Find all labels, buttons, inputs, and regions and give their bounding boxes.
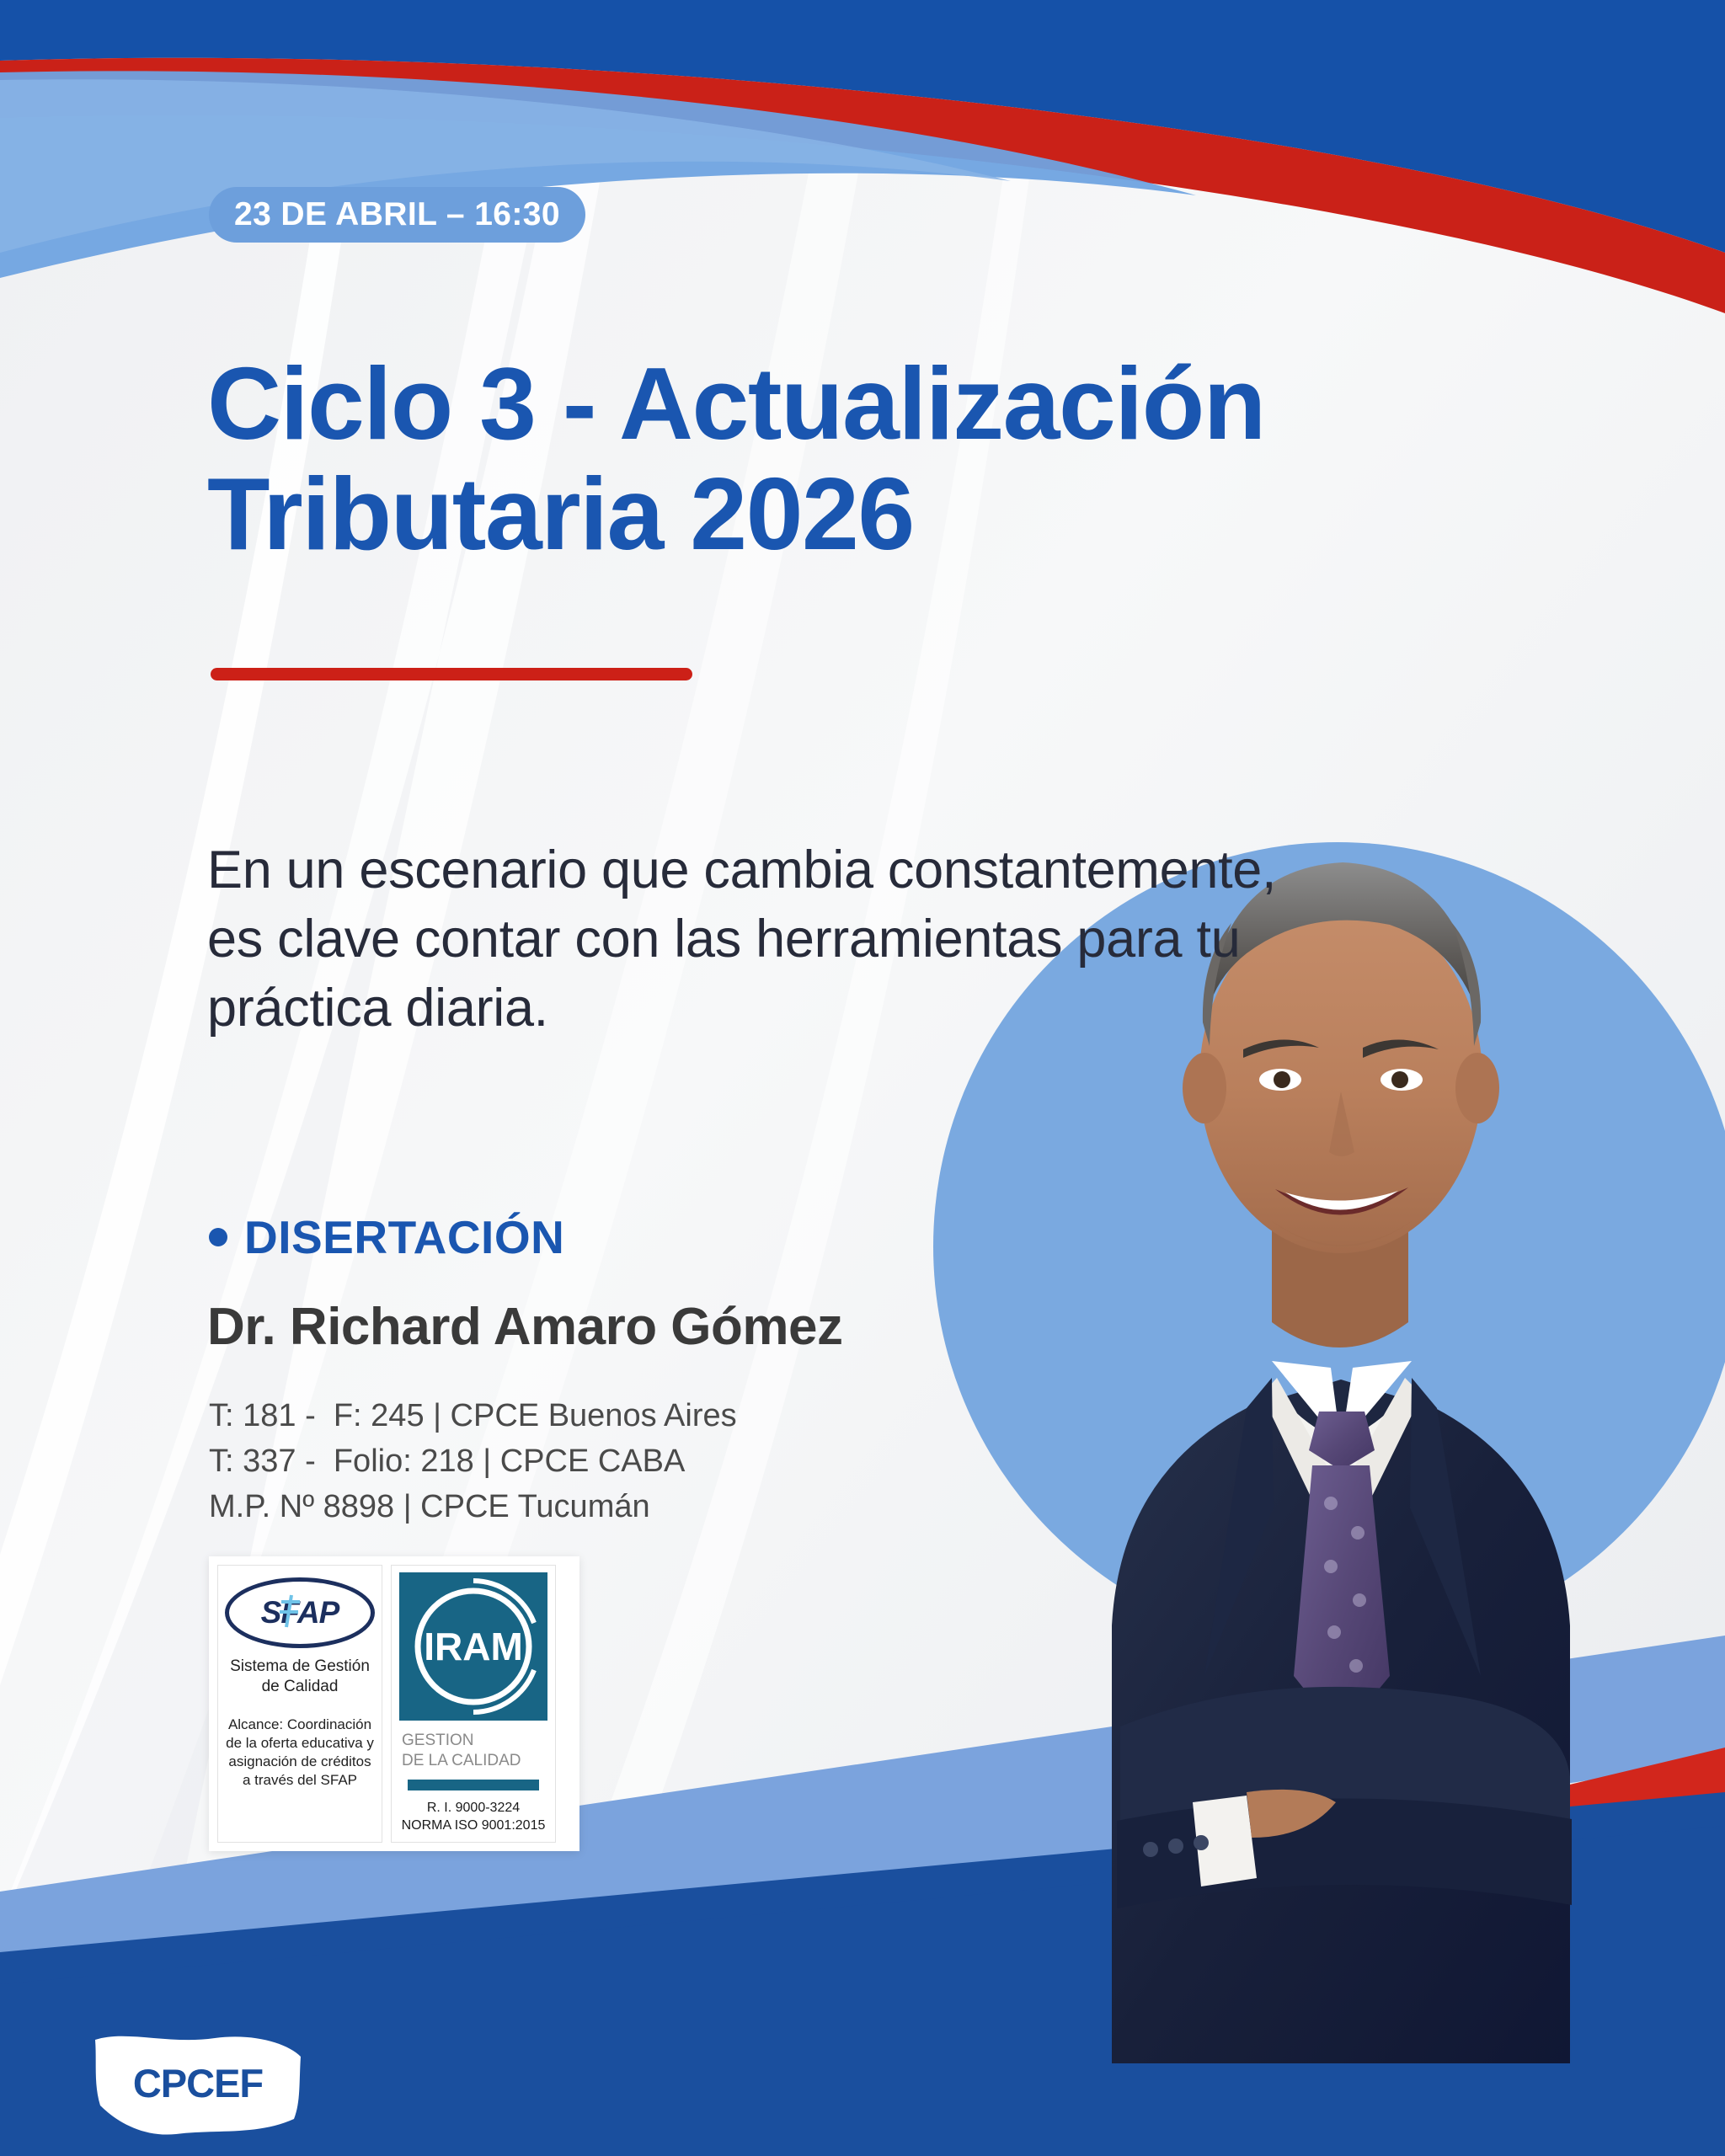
speaker-credentials: T: 181 - F: 245 | CPCE Buenos Aires T: 3… — [209, 1394, 737, 1530]
sfap-accent-icon — [278, 1593, 303, 1629]
iram-label-line-2: DE LA CALIDAD — [402, 1752, 521, 1769]
bullet-icon — [209, 1228, 227, 1246]
credential-line-2: T: 337 - Folio: 218 | CPCE CABA — [209, 1439, 737, 1485]
iram-registry-info: R. I. 9000-3224 NORMA ISO 9001:2015 — [402, 1799, 546, 1835]
iram-label: GESTION DE LA CALIDAD — [402, 1731, 521, 1771]
page-title: Ciclo 3 - Actualización Tributaria 2026 — [207, 349, 1521, 571]
sfap-scope-line-4: a través del SFAP — [243, 1772, 357, 1788]
sfap-scope-line-3: asignación de créditos — [228, 1753, 371, 1769]
iram-logo-text: IRAM — [424, 1625, 523, 1668]
iram-divider-bar — [408, 1780, 539, 1790]
cpcef-logo: CPCEF — [88, 2028, 307, 2137]
credential-line-3: M.P. Nº 8898 | CPCE Tucumán — [209, 1485, 737, 1530]
lead-line-1: En un escenario que cambia constantement… — [207, 836, 1555, 905]
poster-canvas: 23 DE ABRIL – 16:30 Ciclo 3 - Actualizac… — [0, 0, 1725, 2156]
cpcef-logo-text: CPCEF — [133, 2061, 263, 2105]
lead-paragraph: En un escenario que cambia constantement… — [207, 836, 1555, 1043]
section-label: DISERTACIÓN — [244, 1210, 564, 1264]
sfap-certification-card: SFAP Sistema de Gestión de Calidad Alcan… — [217, 1565, 382, 1843]
sfap-scope-line-1: Alcance: Coordinación — [228, 1716, 371, 1732]
iram-norm: NORMA ISO 9001:2015 — [402, 1818, 546, 1833]
sfap-scope-line-2: de la oferta educativa y — [226, 1735, 374, 1751]
sfap-logo-icon: SFAP — [225, 1577, 375, 1648]
sfap-subtitle: Sistema de Gestión de Calidad — [230, 1657, 370, 1697]
title-line-1: Ciclo 3 - Actualización — [207, 346, 1265, 461]
certification-badges: SFAP Sistema de Gestión de Calidad Alcan… — [209, 1556, 579, 1851]
sfap-scope: Alcance: Coordinación de la oferta educa… — [226, 1716, 374, 1790]
event-date-badge: 23 DE ABRIL – 16:30 — [209, 187, 585, 243]
lead-line-3: práctica diaria. — [207, 974, 1555, 1043]
iram-registry: R. I. 9000-3224 — [427, 1801, 520, 1815]
credential-line-1: T: 181 - F: 245 | CPCE Buenos Aires — [209, 1394, 737, 1439]
title-line-2: Tributaria 2026 — [207, 459, 1521, 570]
iram-label-line-1: GESTION — [402, 1732, 474, 1749]
iram-certification-card: IRAM GESTION DE LA CALIDAD R. I. 9000-32… — [391, 1565, 556, 1843]
lead-line-2: es clave contar con las herramientas par… — [207, 905, 1555, 974]
title-divider — [211, 668, 692, 680]
sfap-subtitle-line-1: Sistema de Gestión — [230, 1657, 370, 1675]
sfap-subtitle-line-2: de Calidad — [262, 1678, 339, 1695]
section-heading-disertacion: DISERTACIÓN — [209, 1210, 564, 1264]
iram-logo-icon: IRAM — [399, 1572, 547, 1721]
speaker-name: Dr. Richard Amaro Gómez — [207, 1297, 843, 1357]
